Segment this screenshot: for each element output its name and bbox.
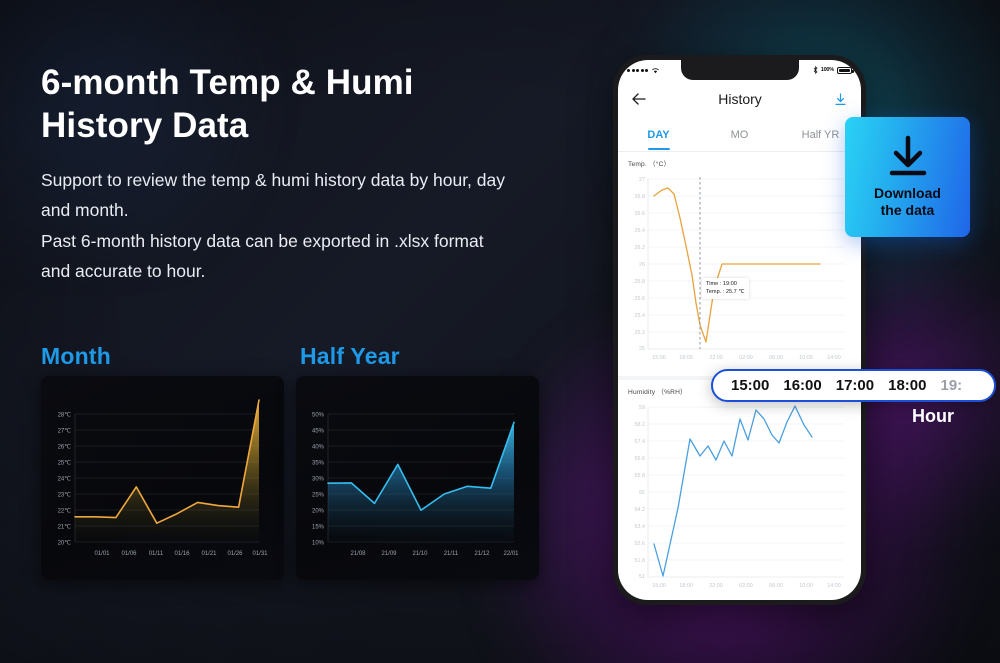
svg-text:21/08: 21/08 <box>350 551 366 557</box>
svg-text:21/12: 21/12 <box>474 551 490 557</box>
download-callout[interactable]: Download the data <box>845 117 970 237</box>
svg-text:01/06: 01/06 <box>121 551 137 557</box>
humidity-chart-panel: Humidity （%RH） 59 <box>618 380 861 600</box>
half-year-area <box>328 422 514 542</box>
svg-text:01/21: 01/21 <box>201 551 217 557</box>
svg-text:52.6: 52.6 <box>635 541 646 547</box>
svg-text:10:00: 10:00 <box>799 583 813 589</box>
svg-text:26℃: 26℃ <box>58 445 72 451</box>
temperature-chart-svg[interactable]: 27 26.8 26.6 26.4 26.2 26 25.8 25.6 25.4… <box>622 169 857 369</box>
download-callout-line-1: Download <box>874 185 941 202</box>
nav-bar: History <box>618 80 861 118</box>
svg-text:30%: 30% <box>312 477 325 483</box>
status-bar-right: 100% <box>813 66 852 74</box>
download-icon[interactable] <box>834 93 847 106</box>
svg-text:21/10: 21/10 <box>412 551 428 557</box>
svg-text:14:00: 14:00 <box>827 583 841 589</box>
svg-text:21℃: 21℃ <box>58 525 72 531</box>
svg-text:21/09: 21/09 <box>381 551 397 557</box>
tab-bar: DAY MO Half YR <box>618 118 861 152</box>
svg-text:22:00: 22:00 <box>709 355 723 361</box>
tooltip-temp: Temp. : 25.7 ℃ <box>706 288 745 296</box>
svg-text:25℃: 25℃ <box>58 461 72 467</box>
svg-text:24℃: 24℃ <box>58 477 72 483</box>
temperature-x-ticks: 15:00 18:00 22:00 02:00 06:00 10:00 14:0… <box>652 355 841 361</box>
month-x-ticks: 01/01 01/06 01/11 01/16 01/21 01/26 01/3… <box>94 551 268 557</box>
tab-day[interactable]: DAY <box>618 118 699 151</box>
svg-text:22:00: 22:00 <box>709 583 723 589</box>
svg-text:20%: 20% <box>312 509 325 515</box>
month-chart-svg: 28℃ 27℃ 26℃ 25℃ 24℃ 23℃ 22℃ 21℃ 20℃ 01/0… <box>41 376 284 580</box>
hour-option-1700[interactable]: 17:00 <box>836 377 874 394</box>
svg-text:06:00: 06:00 <box>769 583 783 589</box>
hour-callout-label: Hour <box>912 406 954 427</box>
svg-text:56.6: 56.6 <box>635 456 646 462</box>
tab-half-yr-label: Half YR <box>802 129 840 141</box>
svg-text:51: 51 <box>639 574 645 580</box>
half-year-chart-svg: 50% 45% 40% 35% 30% 25% 20% 15% 10% 21/0… <box>296 376 539 580</box>
svg-text:01/26: 01/26 <box>227 551 243 557</box>
svg-text:23℃: 23℃ <box>58 493 72 499</box>
section-title-half-year: Half Year <box>300 343 400 370</box>
svg-text:40%: 40% <box>312 445 325 451</box>
hour-selector-pill[interactable]: 15:00 16:00 17:00 18:00 19: <box>711 369 996 402</box>
svg-text:53.4: 53.4 <box>635 524 646 530</box>
svg-text:50%: 50% <box>312 413 325 419</box>
description-line-1: Support to review the temp & humi histor… <box>41 165 511 225</box>
half-year-chart-card: 50% 45% 40% 35% 30% 25% 20% 15% 10% 21/0… <box>296 376 539 580</box>
phone-screen: 100% History DAY MO Half YR Temp. （°C） <box>618 60 861 600</box>
tab-mo-label: MO <box>731 129 749 141</box>
temperature-y-ticks: 27 26.8 26.6 26.4 26.2 26 25.8 25.6 25.4… <box>635 177 646 352</box>
svg-text:26.8: 26.8 <box>635 194 646 200</box>
svg-text:26.6: 26.6 <box>635 211 646 217</box>
back-arrow-icon[interactable] <box>632 93 646 105</box>
svg-text:25: 25 <box>639 346 645 352</box>
svg-text:20℃: 20℃ <box>58 541 72 547</box>
svg-text:18:00: 18:00 <box>679 355 693 361</box>
svg-text:10:00: 10:00 <box>799 355 813 361</box>
svg-text:26.4: 26.4 <box>635 228 646 234</box>
svg-text:55.8: 55.8 <box>635 473 646 479</box>
svg-text:14:00: 14:00 <box>827 355 841 361</box>
temperature-tooltip: Time : 19:00 Temp. : 25.7 ℃ <box>702 278 749 299</box>
half-year-y-ticks: 50% 45% 40% 35% 30% 25% 20% 15% 10% <box>312 413 325 547</box>
svg-text:02:00: 02:00 <box>739 583 753 589</box>
svg-text:59: 59 <box>639 405 645 411</box>
temperature-line <box>654 188 820 342</box>
bluetooth-icon <box>813 66 818 74</box>
svg-text:26.2: 26.2 <box>635 245 646 251</box>
download-callout-text: Download the data <box>874 185 941 218</box>
humidity-line <box>654 406 812 576</box>
svg-text:27: 27 <box>639 177 645 183</box>
svg-text:01/11: 01/11 <box>149 551 164 557</box>
temperature-gridlines <box>648 179 844 332</box>
humidity-gridlines <box>648 407 844 560</box>
tooltip-time: Time : 19:00 <box>706 280 745 288</box>
temperature-chart-panel: Temp. （°C） <box>618 152 861 376</box>
page-title: 6-month Temp & Humi History Data <box>41 62 511 147</box>
phone-notch <box>681 60 799 80</box>
svg-text:27℃: 27℃ <box>58 429 72 435</box>
description-block: Support to review the temp & humi histor… <box>41 165 511 285</box>
svg-text:22℃: 22℃ <box>58 509 72 515</box>
description-line-2: Past 6-month history data can be exporte… <box>41 226 511 286</box>
svg-text:25.6: 25.6 <box>635 296 646 302</box>
signal-dots-icon <box>627 69 648 72</box>
svg-text:57.4: 57.4 <box>635 439 646 445</box>
svg-text:51.8: 51.8 <box>635 558 646 564</box>
humidity-chart-svg[interactable]: 59 58.2 57.4 56.6 55.8 55 54.2 53.4 52.6… <box>622 397 857 597</box>
svg-text:10%: 10% <box>312 541 325 547</box>
svg-text:15%: 15% <box>312 525 325 531</box>
temperature-axis-label: Temp. （°C） <box>628 158 857 168</box>
svg-text:28℃: 28℃ <box>58 413 72 419</box>
svg-text:25%: 25% <box>312 493 325 499</box>
svg-text:01/16: 01/16 <box>174 551 190 557</box>
section-title-month: Month <box>41 343 111 370</box>
svg-text:25.8: 25.8 <box>635 279 646 285</box>
battery-icon <box>837 67 852 74</box>
svg-text:26: 26 <box>639 262 645 268</box>
svg-text:25.2: 25.2 <box>635 330 646 336</box>
svg-text:54.2: 54.2 <box>635 507 646 513</box>
tab-day-label: DAY <box>647 129 669 141</box>
hour-option-1800[interactable]: 18:00 <box>888 377 926 394</box>
download-icon <box>882 135 934 179</box>
svg-text:25.4: 25.4 <box>635 313 646 319</box>
svg-text:15:00: 15:00 <box>652 355 666 361</box>
tab-mo[interactable]: MO <box>699 118 780 151</box>
svg-text:18:00: 18:00 <box>679 583 693 589</box>
half-year-x-ticks: 21/08 21/09 21/10 21/11 21/12 22/01 <box>350 551 519 557</box>
month-chart-card: 28℃ 27℃ 26℃ 25℃ 24℃ 23℃ 22℃ 21℃ 20℃ 01/0… <box>41 376 284 580</box>
status-bar-left <box>627 67 660 74</box>
humidity-x-ticks: 15:00 18:00 22:00 02:00 06:00 10:00 14:0… <box>652 583 841 589</box>
wifi-icon <box>651 67 660 74</box>
svg-text:01/01: 01/01 <box>94 551 110 557</box>
month-y-ticks: 28℃ 27℃ 26℃ 25℃ 24℃ 23℃ 22℃ 21℃ 20℃ <box>58 413 72 547</box>
download-callout-line-2: the data <box>874 202 941 219</box>
hour-option-1600[interactable]: 16:00 <box>783 377 821 394</box>
svg-text:22/01: 22/01 <box>503 551 519 557</box>
marketing-copy: 6-month Temp & Humi History Data Support… <box>41 62 511 286</box>
page-title-history: History <box>718 91 762 107</box>
svg-text:45%: 45% <box>312 429 325 435</box>
svg-text:58.2: 58.2 <box>635 422 646 428</box>
hour-option-1500[interactable]: 15:00 <box>731 377 769 394</box>
humidity-y-ticks: 59 58.2 57.4 56.6 55.8 55 54.2 53.4 52.6… <box>635 405 646 580</box>
month-area <box>75 400 259 542</box>
svg-text:15:00: 15:00 <box>652 583 666 589</box>
svg-text:06:00: 06:00 <box>769 355 783 361</box>
svg-text:35%: 35% <box>312 461 325 467</box>
svg-text:02:00: 02:00 <box>739 355 753 361</box>
phone-mockup: 100% History DAY MO Half YR Temp. （°C） <box>613 55 866 605</box>
svg-text:21/11: 21/11 <box>444 551 459 557</box>
month-line <box>75 400 259 523</box>
svg-text:55: 55 <box>639 490 645 496</box>
svg-text:01/31: 01/31 <box>252 551 268 557</box>
battery-percent-label: 100% <box>821 67 834 73</box>
hour-option-1900[interactable]: 19: <box>941 377 963 394</box>
